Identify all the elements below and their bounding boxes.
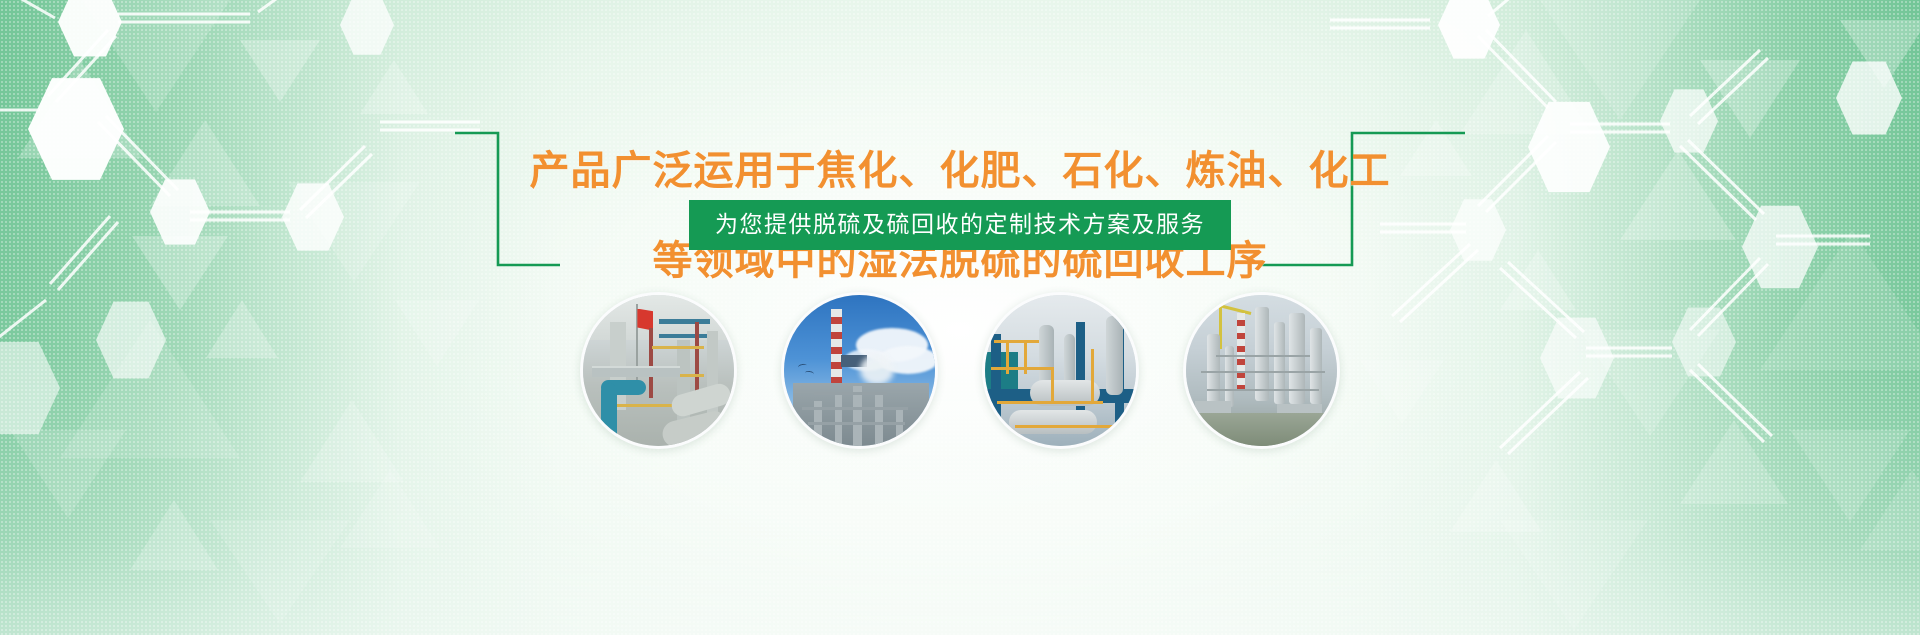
photo-desulfurization-piping-plant[interactable]	[580, 292, 737, 449]
promo-banner: 产品广泛运用于焦化、化肥、石化、炼油、化工 等领域中的湿法脱硫的硫回收工序 为您…	[0, 0, 1920, 635]
photo-sulfur-recovery-unit[interactable]	[982, 292, 1139, 449]
headline-line-1: 产品广泛运用于焦化、化肥、石化、炼油、化工	[0, 150, 1920, 192]
photo-image	[784, 295, 935, 446]
photo-petrochemical-columns[interactable]	[1183, 292, 1340, 449]
photo-image	[985, 295, 1136, 446]
photo-image	[583, 295, 734, 446]
photo-refinery-chimney-stack[interactable]	[781, 292, 938, 449]
photo-image	[1186, 295, 1337, 446]
photo-strip	[580, 292, 1340, 452]
subtitle-badge: 为您提供脱硫及硫回收的定制技术方案及服务	[689, 200, 1231, 250]
